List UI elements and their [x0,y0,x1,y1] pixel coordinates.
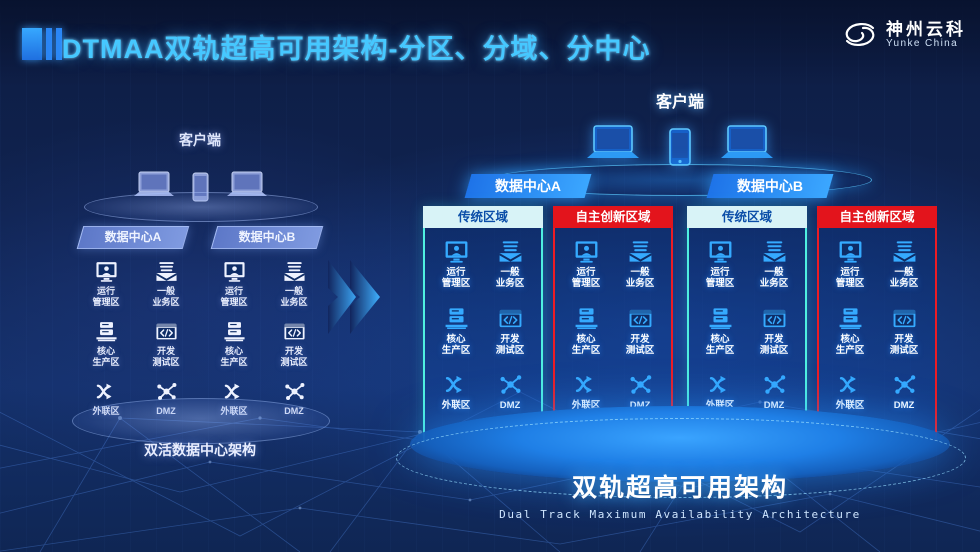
monitor-user-icon [574,239,599,264]
region-inno: 自主创新区域运行 管理区一般 业务区核心 生产区开发 测试区外联区DMZ [817,206,937,441]
zone-item: 一般 业务区 [877,239,931,306]
crossing-arrows-icon [838,372,863,397]
zone-item: 开发 测试区 [267,320,321,368]
right-datacenter-tags: 数据中心A 数据中心B [390,174,970,200]
zone-label: 一般 业务区 [890,267,919,289]
zone-label: 运行 管理区 [572,267,601,289]
zone-item: 运行 管理区 [207,260,261,308]
double-chevron-right-icon [326,252,386,342]
region-zone-grid: 运行 管理区一般 业务区核心 生产区开发 测试区外联区DMZ [817,228,937,441]
left-base-platform [72,398,330,444]
smartphone-icon [669,128,691,166]
code-window-icon [762,306,787,331]
legacy-architecture-panel: 客户端 数据中心A 数据中心B [70,130,330,450]
laptop-icon [719,124,775,166]
monitor-user-icon [708,239,733,264]
left-dc-b-zones: 运行 管理区一般 业务区核心 生产区开发 测试区外联区DMZ [204,260,324,417]
dtmaa-architecture-panel: 客户端 数据中心A 数据中心B [390,88,970,488]
brand-name-cn: 神州云科 [886,21,966,39]
right-datacenter-tag-a: 数据中心A [465,174,592,198]
region-trad: 传统区域运行 管理区一般 业务区核心 生产区开发 测试区外联区DMZ [423,206,543,441]
right-dc-b-label: 数据中心B [710,174,830,198]
left-client-label: 客户端 [70,130,330,150]
inbox-tray-icon [628,239,653,264]
zone-item: 一般 业务区 [483,239,537,306]
title-accent-bars-icon [22,28,62,60]
zone-label: 外联区 [836,400,865,411]
zone-item: 一般 业务区 [613,239,667,306]
laptop-icon [585,124,641,166]
right-panel-caption: 双轨超高可用架构 Dual Track Maximum Availability… [390,468,970,521]
network-nodes-icon [498,372,523,397]
zone-label: 一般 业务区 [760,267,789,289]
zone-label: DMZ [894,400,915,411]
left-client-platform [84,192,318,222]
page-title: DTMAA双轨超高可用架构-分区、分域、分中心 [62,27,650,66]
brand-name-en: Yunke China [886,39,966,50]
crossing-arrows-icon [95,380,118,403]
zone-item: 运行 管理区 [429,239,483,306]
zone-label: 运行 管理区 [220,286,247,308]
region-header: 自主创新区域 [553,206,673,228]
zone-item: 开发 测试区 [747,306,801,373]
zone-label: DMZ [500,400,521,411]
left-datacenter-tag-b: 数据中心B [211,226,324,249]
zone-label: 运行 管理区 [442,267,471,289]
zone-item: 运行 管理区 [823,239,877,306]
monitor-user-icon [838,239,863,264]
zone-label: 运行 管理区 [92,286,119,308]
right-caption-en: Dual Track Maximum Availability Architec… [390,508,970,521]
monitor-user-icon [223,260,246,283]
zone-item: 运行 管理区 [79,260,133,308]
zone-label: 运行 管理区 [836,267,865,289]
inbox-tray-icon [762,239,787,264]
server-stack-icon [708,306,733,331]
zone-label: 开发 测试区 [280,346,307,368]
zone-label: 运行 管理区 [706,267,735,289]
zone-item: 一般 业务区 [747,239,801,306]
right-dc-a-label: 数据中心A [468,174,588,198]
slide-canvas: DTMAA双轨超高可用架构-分区、分域、分中心 神州云科 Yunke China… [0,0,980,552]
server-stack-icon [95,320,118,343]
brand-logo: 神州云科 Yunke China [843,20,966,50]
zone-item: 核心 生产区 [559,306,613,373]
right-client-label: 客户端 [390,88,970,112]
right-caption-cn: 双轨超高可用架构 [390,468,970,504]
zone-label: 外联区 [442,400,471,411]
crossing-arrows-icon [574,372,599,397]
zone-item: 核心 生产区 [823,306,877,373]
zone-item: 一般 业务区 [267,260,321,308]
zone-label: 开发 测试区 [890,334,919,356]
code-window-icon [892,306,917,331]
zone-item: 核心 生产区 [79,320,133,368]
zone-item: 开发 测试区 [483,306,537,373]
left-panel-caption: 双活数据中心架构 [70,440,330,460]
monitor-user-icon [444,239,469,264]
server-stack-icon [444,306,469,331]
network-nodes-icon [892,372,917,397]
code-window-icon [628,306,653,331]
zone-item: 核心 生产区 [429,306,483,373]
network-nodes-icon [283,380,306,403]
zone-label: 开发 测试区 [152,346,179,368]
zone-item: 开发 测试区 [877,306,931,373]
zone-item: 运行 管理区 [693,239,747,306]
zone-item: 核心 生产区 [207,320,261,368]
zone-item: 核心 生产区 [693,306,747,373]
zone-label: 一般 业务区 [152,286,179,308]
server-stack-icon [574,306,599,331]
zone-label: 开发 测试区 [760,334,789,356]
crossing-arrows-icon [708,372,733,397]
server-stack-icon [223,320,246,343]
zone-label: 核心 生产区 [706,334,735,356]
server-stack-icon [838,306,863,331]
zone-label: 开发 测试区 [626,334,655,356]
inbox-tray-icon [498,239,523,264]
left-datacenter-tag-a: 数据中心A [77,226,190,249]
zone-label: 开发 测试区 [496,334,525,356]
code-window-icon [498,306,523,331]
galaxy-spiral-icon [843,20,877,50]
zone-label: 核心 生产区 [572,334,601,356]
region-header: 传统区域 [687,206,807,228]
left-dc-b-label: 数据中心B [215,227,319,248]
zone-label: 一般 业务区 [280,286,307,308]
region-header: 自主创新区域 [817,206,937,228]
zone-label: 核心 生产区 [220,346,247,368]
left-zone-grid: 运行 管理区一般 业务区核心 生产区开发 测试区外联区DMZ 运行 管理区一般 … [70,260,330,417]
inbox-tray-icon [892,239,917,264]
zone-label: 一般 业务区 [496,267,525,289]
zone-item: 开发 测试区 [613,306,667,373]
zone-item: 开发 测试区 [139,320,193,368]
zone-item: 运行 管理区 [559,239,613,306]
crossing-arrows-icon [444,372,469,397]
left-dc-a-zones: 运行 管理区一般 业务区核心 生产区开发 测试区外联区DMZ [76,260,196,417]
inbox-tray-icon [283,260,306,283]
zone-label: 核心 生产区 [442,334,471,356]
region-zone-grid: 运行 管理区一般 业务区核心 生产区开发 测试区外联区DMZ [423,228,543,441]
zone-label: 一般 业务区 [626,267,655,289]
left-dc-a-label: 数据中心A [81,227,185,248]
slide-header: DTMAA双轨超高可用架构-分区、分域、分中心 神州云科 Yunke China [0,0,980,84]
zone-label: 核心 生产区 [836,334,865,356]
right-datacenter-tag-b: 数据中心B [707,174,834,198]
zone-label: 核心 生产区 [92,346,119,368]
code-window-icon [283,320,306,343]
monitor-user-icon [95,260,118,283]
zone-item: 一般 业务区 [139,260,193,308]
network-nodes-icon [628,372,653,397]
code-window-icon [155,320,178,343]
right-client-devices [390,114,970,166]
inbox-tray-icon [155,260,178,283]
left-datacenter-tags: 数据中心A 数据中心B [70,226,330,249]
network-nodes-icon [762,372,787,397]
region-header: 传统区域 [423,206,543,228]
